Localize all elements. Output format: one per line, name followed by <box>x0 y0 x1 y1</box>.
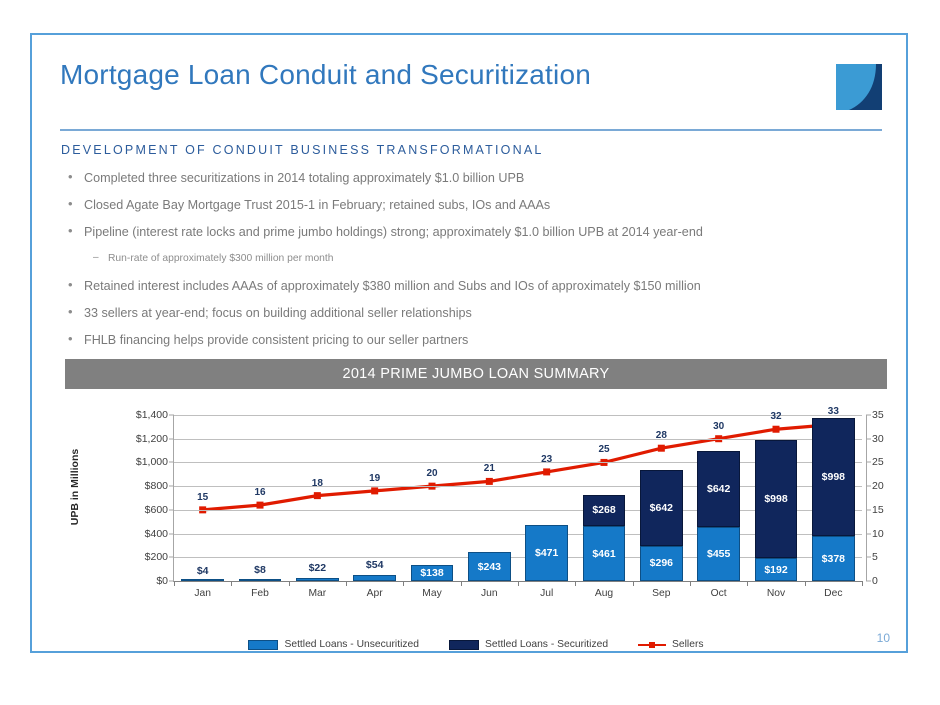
x-axis-tickmark <box>461 581 462 586</box>
chart: UPB in Millions $0$200$400$600$800$1,000… <box>65 401 887 653</box>
bullet-item: Retained interest includes AAAs of appro… <box>60 279 880 293</box>
x-axis-tickmark <box>289 581 290 586</box>
y-axis-tickmark <box>169 509 174 510</box>
x-axis-tickmark <box>633 581 634 586</box>
chart-title-bar: 2014 PRIME JUMBO LOAN SUMMARY <box>65 359 887 389</box>
bar-segment-unsecuritized[interactable] <box>239 579 281 581</box>
secondary-y-axis-tickmark <box>866 462 871 463</box>
bar-column[interactable]: $138 <box>411 565 453 581</box>
sellers-value-label: 15 <box>197 492 208 503</box>
y-axis-tickmark <box>169 438 174 439</box>
bar-column[interactable] <box>353 575 395 581</box>
x-axis-tickmark <box>174 581 175 586</box>
bullet-item: FHLB financing helps provide consistent … <box>60 333 880 347</box>
bar-segment-unsecuritized[interactable]: $192 <box>755 558 797 581</box>
secondary-y-axis-tickmark <box>866 557 871 558</box>
legend-swatch-icon <box>449 640 479 650</box>
x-axis-tickmark <box>862 581 863 586</box>
legend-item-securitized: Settled Loans - Securitized <box>449 639 608 650</box>
bar-column[interactable]: $268$461 <box>583 495 625 581</box>
sellers-value-label: 25 <box>598 444 609 455</box>
bar-segment-securitized[interactable]: $998 <box>755 440 797 558</box>
x-axis-label: Feb <box>251 588 269 599</box>
bar-column[interactable]: $642$455 <box>697 451 739 581</box>
x-axis-tickmark <box>805 581 806 586</box>
chart-title: 2014 PRIME JUMBO LOAN SUMMARY <box>342 366 609 382</box>
secondary-y-axis-tickmark <box>866 415 871 416</box>
bar-column[interactable]: $642$296 <box>640 470 682 581</box>
bar-segment-unsecuritized[interactable]: $296 <box>640 546 682 581</box>
sellers-value-label: 18 <box>312 478 323 489</box>
y-axis-tick: $400 <box>145 528 168 540</box>
y-axis-tick: $200 <box>145 551 168 563</box>
x-axis-tickmark <box>346 581 347 586</box>
legend-label: Sellers <box>672 639 703 650</box>
page-number: 10 <box>877 631 890 645</box>
bar-segment-unsecuritized[interactable]: $378 <box>812 536 854 581</box>
bar-column[interactable] <box>239 580 281 581</box>
slide: Mortgage Loan Conduit and Securitization… <box>30 33 908 653</box>
secondary-y-axis-tick: 5 <box>872 551 878 563</box>
bar-column[interactable]: $243 <box>468 552 510 581</box>
bullet-list: Completed three securitizations in 2014 … <box>60 171 880 360</box>
x-axis-tickmark <box>403 581 404 586</box>
x-axis-label: Sep <box>652 588 670 599</box>
bullet-item: Closed Agate Bay Mortgage Trust 2015-1 i… <box>60 198 880 212</box>
x-axis-label: Jan <box>194 588 211 599</box>
legend-item-sellers: Sellers <box>638 639 703 650</box>
secondary-y-axis-tick: 35 <box>872 409 884 421</box>
bar-segment-securitized[interactable]: $268 <box>583 495 625 527</box>
gridline <box>174 415 862 416</box>
secondary-y-axis-tickmark <box>866 486 871 487</box>
plot-area: $0$200$400$600$800$1,000$1,200$1,4000510… <box>173 415 862 582</box>
y-axis-tick: $800 <box>145 480 168 492</box>
bullet-item: 33 sellers at year-end; focus on buildin… <box>60 306 880 320</box>
bar-column[interactable]: $471 <box>525 525 567 581</box>
x-axis-label: Oct <box>711 588 727 599</box>
bar-segment-securitized[interactable]: $998 <box>812 418 854 536</box>
sellers-value-label: 21 <box>484 463 495 474</box>
sellers-value-label: 33 <box>828 406 839 417</box>
secondary-y-axis-tick: 0 <box>872 575 878 587</box>
x-axis-tickmark <box>575 581 576 586</box>
y-axis-tickmark <box>169 557 174 558</box>
x-axis-label: Jul <box>540 588 553 599</box>
x-axis-label: Aug <box>595 588 613 599</box>
secondary-y-axis-tickmark <box>866 581 871 582</box>
bar-segment-securitized[interactable]: $642 <box>640 470 682 546</box>
bar-value-label: $4 <box>197 565 209 577</box>
bar-segment-unsecuritized[interactable]: $455 <box>697 527 739 581</box>
bar-segment-securitized[interactable]: $642 <box>697 451 739 527</box>
secondary-y-axis-tick: 20 <box>872 480 884 492</box>
bar-column[interactable]: $998$192 <box>755 440 797 581</box>
sellers-value-label: 32 <box>770 411 781 422</box>
x-axis-label: Apr <box>367 588 383 599</box>
bar-segment-unsecuritized[interactable] <box>181 579 223 581</box>
x-axis-tickmark <box>690 581 691 586</box>
bar-segment-unsecuritized[interactable]: $461 <box>583 526 625 581</box>
slide-subtitle: DEVELOPMENT OF CONDUIT BUSINESS TRANSFOR… <box>61 143 544 157</box>
y-axis-tickmark <box>169 533 174 534</box>
x-axis-label: May <box>422 588 441 599</box>
y-axis-tick: $1,200 <box>136 433 168 445</box>
bar-value-label: $54 <box>366 559 384 571</box>
secondary-y-axis-tick: 10 <box>872 528 884 540</box>
y-axis-tickmark <box>169 462 174 463</box>
sellers-value-label: 19 <box>369 473 380 484</box>
secondary-y-axis-tickmark <box>866 438 871 439</box>
bar-segment-unsecuritized[interactable] <box>296 578 338 581</box>
legend-line-icon <box>638 641 666 649</box>
chart-legend: Settled Loans - Unsecuritized Settled Lo… <box>65 639 887 650</box>
bar-segment-unsecuritized[interactable]: $471 <box>525 525 567 581</box>
bullet-item: Completed three securitizations in 2014 … <box>60 171 880 185</box>
secondary-y-axis-tick: 25 <box>872 456 884 468</box>
y-axis-tick: $0 <box>156 575 168 587</box>
sellers-value-label: 20 <box>426 468 437 479</box>
bullet-subitem: Run-rate of approximately $300 million p… <box>60 252 880 266</box>
bullet-item: Pipeline (interest rate locks and prime … <box>60 225 880 239</box>
secondary-y-axis-tick: 30 <box>872 433 884 445</box>
legend-label: Settled Loans - Unsecuritized <box>284 639 419 650</box>
sellers-value-label: 28 <box>656 430 667 441</box>
legend-label: Settled Loans - Securitized <box>485 639 608 650</box>
company-logo-icon <box>832 60 886 114</box>
y-axis-tickmark <box>169 486 174 487</box>
y-axis-tick: $1,400 <box>136 409 168 421</box>
page-title: Mortgage Loan Conduit and Securitization <box>60 59 591 91</box>
x-axis-label: Jun <box>481 588 498 599</box>
x-axis-label: Mar <box>308 588 326 599</box>
legend-swatch-icon <box>248 640 278 650</box>
y-axis-tickmark <box>169 415 174 416</box>
sellers-value-label: 23 <box>541 454 552 465</box>
sellers-value-label: 30 <box>713 421 724 432</box>
y-axis-title: UPB in Millions <box>69 449 81 525</box>
x-axis-label: Dec <box>824 588 842 599</box>
secondary-y-axis-tickmark <box>866 509 871 510</box>
x-axis-label: Nov <box>767 588 785 599</box>
sellers-value-label: 16 <box>254 487 265 498</box>
bar-value-label: $22 <box>309 562 327 574</box>
bar-column[interactable] <box>296 578 338 581</box>
x-axis-tickmark <box>747 581 748 586</box>
secondary-y-axis-tickmark <box>866 533 871 534</box>
bar-value-label: $8 <box>254 564 266 576</box>
y-axis-tick: $1,000 <box>136 456 168 468</box>
y-axis-tick: $600 <box>145 504 168 516</box>
x-axis-tickmark <box>231 581 232 586</box>
bar-segment-unsecuritized[interactable] <box>353 575 395 581</box>
bar-column[interactable]: $998$378 <box>812 418 854 581</box>
x-axis-tickmark <box>518 581 519 586</box>
legend-item-unsecuritized: Settled Loans - Unsecuritized <box>248 639 419 650</box>
bar-segment-unsecuritized[interactable]: $138 <box>411 565 453 581</box>
bar-segment-unsecuritized[interactable]: $243 <box>468 552 510 581</box>
title-divider <box>60 129 882 131</box>
secondary-y-axis-tick: 15 <box>872 504 884 516</box>
